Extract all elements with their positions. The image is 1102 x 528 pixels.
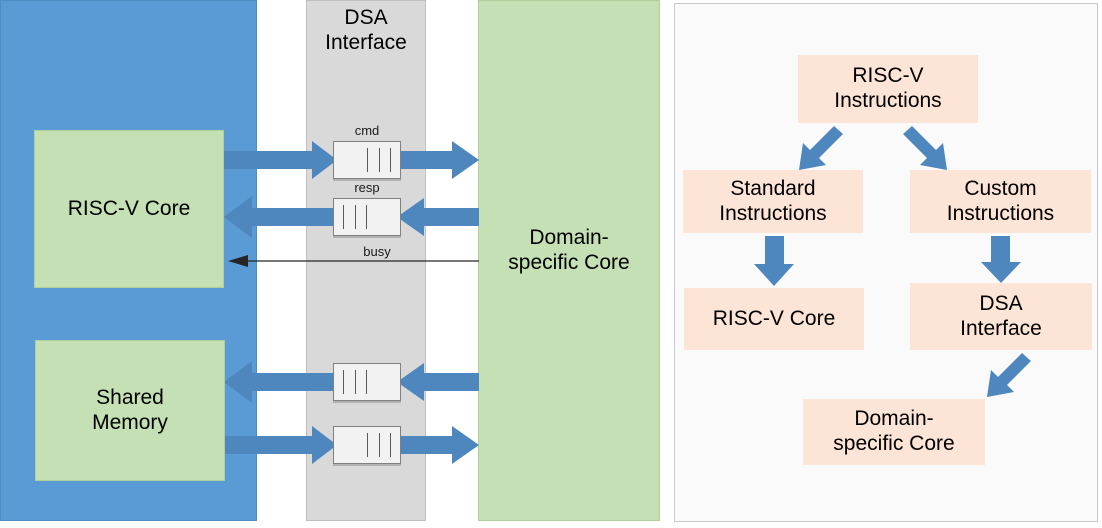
flow-node-custom-instructions-label: CustomInstructions — [947, 177, 1054, 227]
block-riscv-core: RISC-V Core — [34, 130, 224, 288]
fifo-mem-write — [333, 426, 401, 464]
fifo-ticks-icon — [343, 205, 367, 229]
signal-label-busy: busy — [337, 245, 417, 258]
flow-node-risc-v-instructions-label: RISC-VInstructions — [834, 64, 941, 114]
flow-node-dsa-interface-label: DSAInterface — [960, 292, 1042, 342]
domain-specific-core-title-line1: Domain- — [478, 226, 660, 251]
arrow-cmd-out — [397, 141, 479, 179]
flow-node-risc-v-instructions: RISC-VInstructions — [798, 55, 978, 123]
domain-specific-core-title-line2: specific Core — [478, 251, 660, 276]
arrow-to-custom — [903, 126, 947, 170]
fifo-cmd — [333, 141, 401, 179]
fifo-ticks-icon — [367, 148, 391, 172]
arrow-custom-to-dsa — [981, 236, 1021, 283]
dsa-interface-title-line2: Interface — [306, 31, 426, 56]
fifo-ticks-icon — [343, 370, 367, 394]
dsa-interface-title-line1: DSA — [306, 6, 426, 31]
signal-label-resp: resp — [333, 181, 401, 194]
flow-node-risc-v-core-label: RISC-V Core — [713, 307, 836, 332]
arrow-resp-in — [397, 198, 479, 236]
flow-node-risc-v-core: RISC-V Core — [684, 288, 864, 350]
flow-node-domain-specific-core: Domain-specific Core — [803, 399, 985, 465]
arrow-busy-head — [228, 255, 248, 267]
arrow-standard-to-core — [754, 236, 794, 286]
arrow-mem-write-in — [224, 426, 337, 464]
flow-node-domain-specific-core-label: Domain-specific Core — [833, 407, 954, 457]
block-riscv-core-label: RISC-V Core — [68, 197, 191, 222]
arrow-mem-read-in — [397, 363, 479, 401]
flow-node-custom-instructions: CustomInstructions — [910, 170, 1091, 233]
arrow-cmd-in — [224, 141, 337, 179]
arrow-mem-write-out — [397, 426, 479, 464]
flow-node-standard-instructions: StandardInstructions — [683, 170, 863, 233]
signal-label-cmd: cmd — [333, 124, 401, 137]
block-shared-memory: SharedMemory — [35, 340, 225, 481]
arrow-resp-out — [224, 196, 337, 238]
dsa-interface-title: DSA Interface — [306, 6, 426, 56]
arrow-to-standard — [799, 126, 843, 170]
arrow-dsa-to-dsc — [987, 353, 1031, 397]
diagram-canvas: RISC-V Core SharedMemory DSA Interface D… — [0, 0, 1102, 528]
flow-node-dsa-interface: DSAInterface — [910, 283, 1092, 350]
arrow-mem-read-out — [224, 361, 337, 403]
fifo-mem-read — [333, 363, 401, 401]
fifo-ticks-icon — [367, 433, 391, 457]
block-shared-memory-label: SharedMemory — [92, 386, 168, 436]
domain-specific-core-title: Domain- specific Core — [478, 226, 660, 276]
flow-node-standard-instructions-label: StandardInstructions — [719, 177, 826, 227]
fifo-resp — [333, 198, 401, 236]
